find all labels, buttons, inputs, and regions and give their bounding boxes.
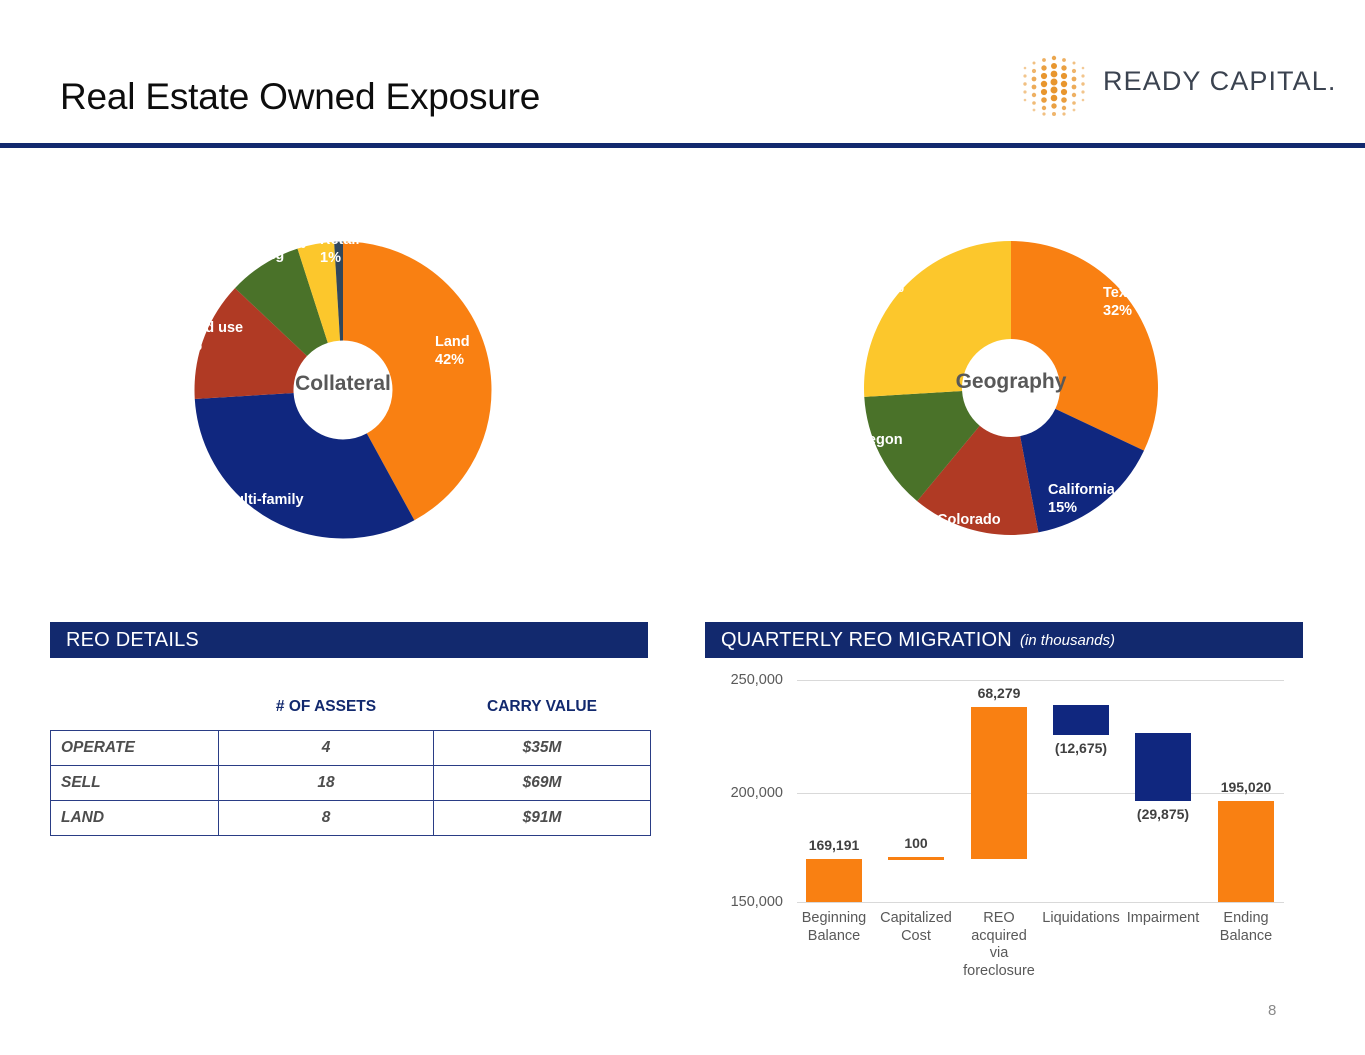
geography-donut-chart: Geography Texas 32% California 15% Color…	[815, 192, 1207, 584]
reo-migration-header-label: QUARTERLY REO MIGRATION	[721, 629, 1012, 652]
row-label-operate: OPERATE	[51, 731, 219, 766]
bar-impairment	[1135, 733, 1191, 801]
xtick-capitalized-cost: Capitalized Cost	[871, 910, 961, 945]
value-label-impairment: (29,875)	[1115, 806, 1211, 822]
collateral-center-label: Collateral	[145, 372, 541, 396]
slice-label-land: Land 42%	[435, 334, 470, 370]
table-row: LAND 8 $91M	[51, 801, 651, 836]
slice-label-retail: Retail 1%	[320, 232, 360, 268]
cell-sell-carry-value: $69M	[434, 766, 651, 801]
reo-details-header-label: REO DETAILS	[66, 629, 199, 652]
geography-center-label: Geography	[815, 370, 1207, 394]
header-divider	[0, 143, 1365, 148]
cell-operate-assets: 4	[219, 731, 434, 766]
cell-sell-assets: 18	[219, 766, 434, 801]
column-header-assets: # OF ASSETS	[219, 692, 434, 731]
page-title: Real Estate Owned Exposure	[60, 76, 540, 118]
xtick-ending-balance: Ending Balance	[1201, 910, 1291, 945]
bar-beginning-balance	[806, 859, 862, 902]
cell-operate-carry-value: $35M	[434, 731, 651, 766]
ytick-150000: 150,000	[705, 894, 783, 910]
table-row: SELL 18 $69M	[51, 766, 651, 801]
xtick-beginning-balance: Beginning Balance	[789, 910, 879, 945]
bar-ending-balance	[1218, 801, 1274, 902]
value-label-liquidations: (12,675)	[1033, 740, 1129, 756]
table-header-row: # OF ASSETS CARRY VALUE	[51, 692, 651, 731]
table-row: OPERATE 4 $35M	[51, 731, 651, 766]
ytick-200000: 200,000	[705, 785, 783, 801]
slice-label-oregon: Oregon 13%	[851, 432, 903, 468]
gridline-150000	[797, 902, 1284, 903]
value-label-reo-acquired: 68,279	[951, 685, 1047, 701]
reo-details-table: # OF ASSETS CARRY VALUE OPERATE 4 $35M S…	[50, 692, 651, 836]
logo-wordmark: READY CAPITAL.	[1103, 66, 1336, 97]
reo-migration-waterfall-chart: 250,000 200,000 150,000 169,191 100 68,2…	[705, 662, 1305, 992]
row-label-land: LAND	[51, 801, 219, 836]
reo-migration-header-note: (in thousands)	[1020, 632, 1115, 649]
cell-land-carry-value: $91M	[434, 801, 651, 836]
xtick-impairment: Impairment	[1117, 910, 1209, 928]
collateral-donut-chart: Collateral Land 42% Multi-family 32% Mix…	[145, 192, 541, 588]
slice-label-texas: Texas 32%	[1103, 285, 1143, 321]
page-number: 8	[1268, 1002, 1276, 1019]
column-header-carry-value: CARRY VALUE	[434, 692, 651, 731]
column-header-blank	[51, 692, 219, 731]
slice-label-california: California 15%	[1048, 482, 1115, 518]
slice-label-colorado: Colorado 14%	[937, 512, 1001, 548]
slice-label-mixed-use: Mixed use 13%	[173, 320, 243, 356]
bar-reo-acquired-via-foreclosure	[971, 707, 1027, 859]
reo-migration-header: QUARTERLY REO MIGRATION (in thousands)	[705, 622, 1303, 658]
slice-label-lodging: Lodging 8%	[227, 247, 284, 283]
brand-logo: READY CAPITAL.	[1015, 50, 1315, 122]
row-label-sell: SELL	[51, 766, 219, 801]
ready-capital-logo-icon	[1015, 52, 1093, 120]
ytick-250000: 250,000	[705, 672, 783, 688]
bar-capitalized-cost	[888, 857, 944, 860]
slice-label-other: Other 26%	[875, 262, 914, 298]
cell-land-assets: 8	[219, 801, 434, 836]
value-label-ending-balance: 195,020	[1198, 779, 1294, 795]
bar-liquidations	[1053, 705, 1109, 735]
slice-label-multi-family: Multi-family 32%	[223, 492, 304, 528]
reo-details-header: REO DETAILS	[50, 622, 648, 658]
gridline-250000	[797, 680, 1284, 681]
value-label-capitalized-cost: 100	[868, 835, 964, 851]
